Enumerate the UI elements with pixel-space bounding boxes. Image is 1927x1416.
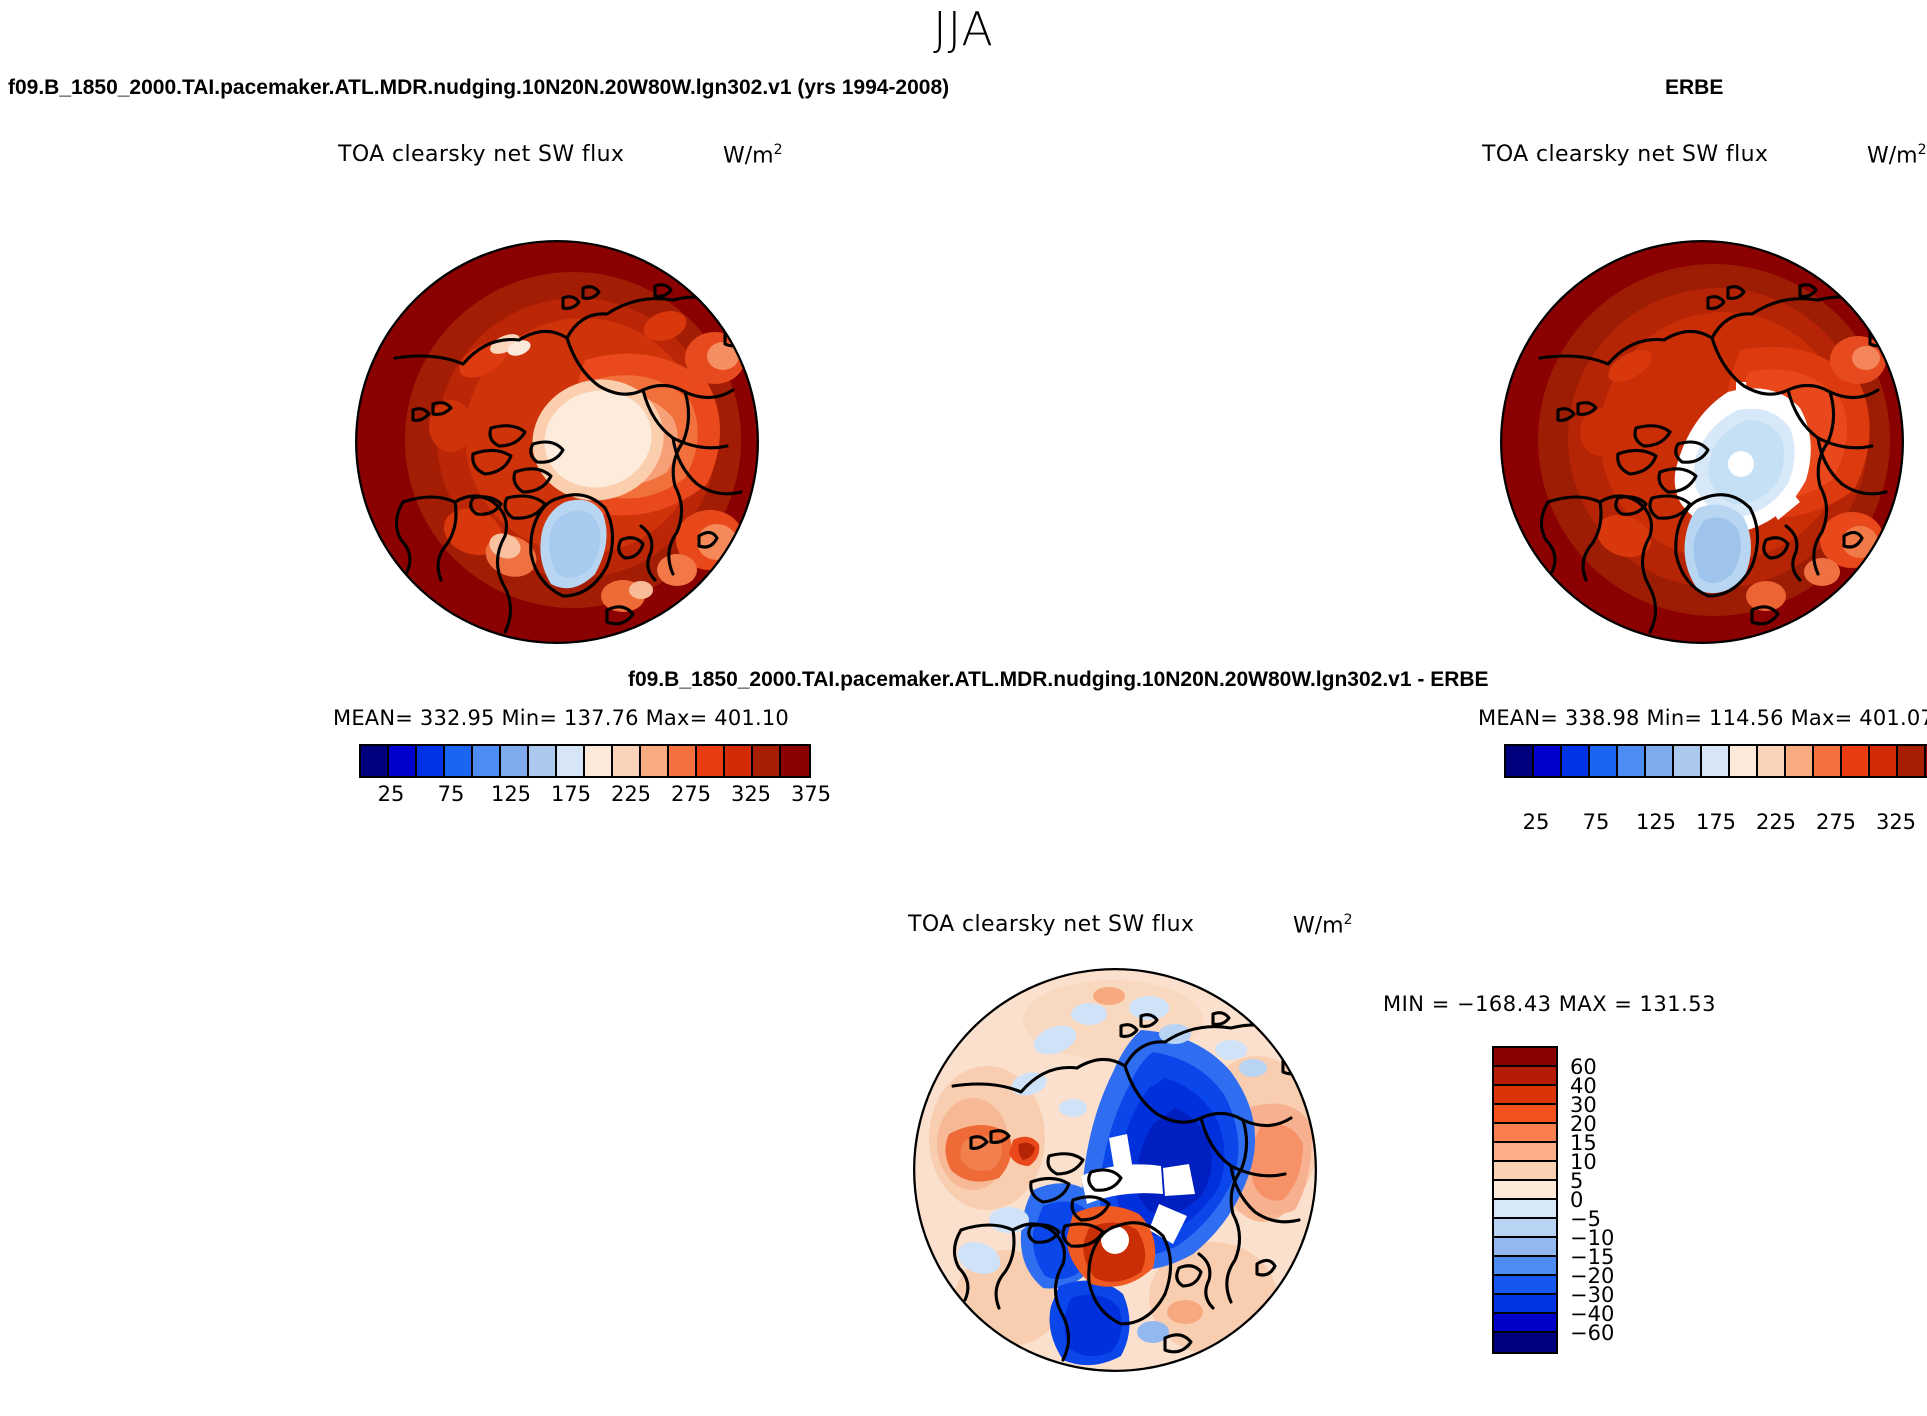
colorbar-tick-label: 275 (1816, 810, 1856, 834)
colorbar-swatch (557, 746, 585, 776)
colorbar-swatch (1494, 1181, 1556, 1200)
colorbar-swatch (1494, 1219, 1556, 1238)
erbe-map-svg (1500, 240, 1904, 644)
model-colorbar-ticks: 2575125175225275325375 (359, 782, 843, 810)
model-map-svg (355, 240, 759, 644)
colorbar-swatch (1562, 746, 1590, 776)
difference-panel-title: f09.B_1850_2000.TAI.pacemaker.ATL.MDR.nu… (628, 668, 1489, 692)
colorbar-swatch (1730, 746, 1758, 776)
model-panel-title: f09.B_1850_2000.TAI.pacemaker.ATL.MDR.nu… (8, 76, 949, 100)
colorbar-tick-label: 325 (731, 782, 771, 806)
model-units-text: W/m (723, 143, 774, 168)
model-stats: MEAN= 332.95 Min= 137.76 Max= 401.10 (333, 706, 789, 730)
colorbar-swatch (1534, 746, 1562, 776)
season-title: JJA (0, 2, 1927, 56)
colorbar-tick-label: 225 (1756, 810, 1796, 834)
model-variable-label: TOA clearsky net SW flux (338, 142, 624, 167)
difference-units-text: W/m (1293, 913, 1344, 938)
colorbar-swatch (1494, 1105, 1556, 1124)
colorbar-swatch (1814, 746, 1842, 776)
colorbar-swatch (753, 746, 781, 776)
colorbar-swatch (473, 746, 501, 776)
colorbar-swatch (641, 746, 669, 776)
difference-colorbar-ticks: 60403020151050−5−10−15−20−30−40−60 (1570, 1046, 1710, 1386)
colorbar-tick-label: 325 (1876, 810, 1916, 834)
erbe-colorbar[interactable] (1504, 744, 1927, 778)
colorbar-tick-label: 375 (791, 782, 831, 806)
colorbar-swatch (1590, 746, 1618, 776)
colorbar-swatch (1898, 746, 1926, 776)
erbe-panel-title: ERBE (1665, 76, 1723, 100)
colorbar-swatch (1702, 746, 1730, 776)
colorbar-swatch (697, 746, 725, 776)
erbe-units-text: W/m (1867, 143, 1918, 168)
colorbar-swatch (725, 746, 753, 776)
difference-units-exponent: 2 (1344, 912, 1353, 928)
colorbar-swatch (389, 746, 417, 776)
difference-variable-label: TOA clearsky net SW flux (908, 912, 1194, 937)
colorbar-swatch (1494, 1200, 1556, 1219)
difference-polar-map (913, 968, 1317, 1372)
colorbar-swatch (1870, 746, 1898, 776)
colorbar-swatch (1494, 1276, 1556, 1295)
colorbar-swatch (1494, 1257, 1556, 1276)
colorbar-swatch (361, 746, 389, 776)
colorbar-swatch (1494, 1067, 1556, 1086)
colorbar-swatch (1646, 746, 1674, 776)
model-polar-map (355, 240, 759, 644)
colorbar-swatch (1786, 746, 1814, 776)
colorbar-swatch (501, 746, 529, 776)
model-units-label: W/m2 (723, 142, 783, 168)
colorbar-swatch (529, 746, 557, 776)
erbe-units-label: W/m2 (1867, 142, 1927, 168)
colorbar-swatch (1674, 746, 1702, 776)
colorbar-swatch (1618, 746, 1646, 776)
colorbar-swatch (1494, 1238, 1556, 1257)
erbe-variable-label: TOA clearsky net SW flux (1482, 142, 1768, 167)
colorbar-swatch (1758, 746, 1786, 776)
colorbar-swatch (1506, 746, 1534, 776)
erbe-stats: MEAN= 338.98 Min= 114.56 Max= 401.07 (1478, 706, 1927, 730)
colorbar-swatch (1494, 1295, 1556, 1314)
colorbar-tick-label: 25 (1523, 810, 1550, 834)
colorbar-tick-label: 175 (551, 782, 591, 806)
model-units-exponent: 2 (774, 142, 783, 158)
colorbar-tick-label: 75 (1583, 810, 1610, 834)
colorbar-swatch (613, 746, 641, 776)
colorbar-swatch (1494, 1143, 1556, 1162)
colorbar-swatch (1494, 1086, 1556, 1105)
difference-units-label: W/m2 (1293, 912, 1353, 938)
colorbar-tick-label: 125 (1636, 810, 1676, 834)
colorbar-tick-label: 275 (671, 782, 711, 806)
colorbar-tick-label: 225 (611, 782, 651, 806)
colorbar-swatch (1842, 746, 1870, 776)
colorbar-tick-label: 75 (438, 782, 465, 806)
colorbar-tick-label: 125 (491, 782, 531, 806)
difference-map-svg (913, 968, 1317, 1372)
erbe-units-exponent: 2 (1918, 142, 1927, 158)
colorbar-tick-label: 175 (1696, 810, 1736, 834)
colorbar-swatch (1494, 1162, 1556, 1181)
colorbar-swatch (417, 746, 445, 776)
colorbar-swatch (781, 746, 809, 776)
model-colorbar[interactable] (359, 744, 811, 778)
colorbar-swatch (1494, 1048, 1556, 1067)
colorbar-tick-label: 25 (378, 782, 405, 806)
colorbar-swatch (1494, 1124, 1556, 1143)
colorbar-swatch (669, 746, 697, 776)
difference-stats: MIN = −168.43 MAX = 131.53 (1383, 992, 1716, 1016)
colorbar-tick-label: −60 (1570, 1321, 1614, 1345)
colorbar-swatch (1494, 1314, 1556, 1333)
erbe-colorbar-ticks: 2575125175225275325375 (1504, 810, 1927, 838)
difference-colorbar[interactable] (1492, 1046, 1558, 1354)
colorbar-swatch (1494, 1333, 1556, 1352)
colorbar-swatch (585, 746, 613, 776)
colorbar-swatch (445, 746, 473, 776)
erbe-polar-map (1500, 240, 1904, 644)
